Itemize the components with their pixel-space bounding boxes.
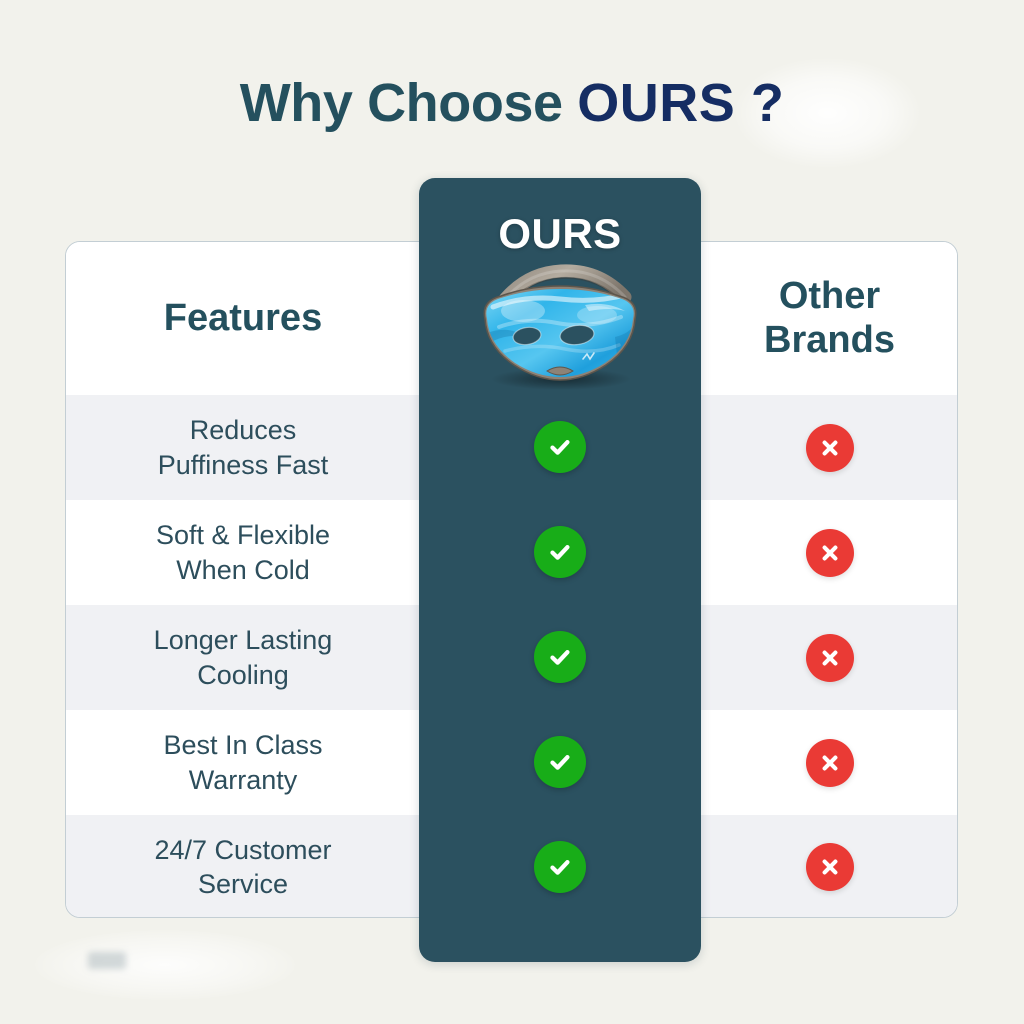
feature-line1: Longer Lasting <box>154 625 333 655</box>
feature-line2: Puffiness Fast <box>158 450 329 480</box>
check-icon <box>534 841 586 893</box>
page-title: Why Choose OURS ? <box>0 72 1024 134</box>
other-brands-cell <box>702 739 957 787</box>
feature-label: Reduces Puffiness Fast <box>158 413 329 482</box>
check-icon <box>534 526 586 578</box>
other-brands-header-label: Other Brands <box>764 275 895 362</box>
feature-cell: 24/7 Customer Service <box>66 833 420 902</box>
header-cell-features: Features <box>66 297 420 340</box>
other-brands-line1: Other <box>779 275 880 317</box>
cross-icon <box>806 739 854 787</box>
ours-cell <box>419 814 701 919</box>
feature-line1: Reduces <box>190 415 297 445</box>
title-accent-text: OURS ? <box>577 73 784 133</box>
cross-icon <box>806 634 854 682</box>
ours-column-label: OURS <box>419 210 701 258</box>
cross-icon <box>806 424 854 472</box>
check-icon <box>534 421 586 473</box>
cross-icon <box>806 529 854 577</box>
other-brands-cell <box>702 424 957 472</box>
ours-highlight-column: OURS <box>419 178 701 962</box>
bottom-smudge-artifact <box>88 952 126 969</box>
feature-label: Best In Class Warranty <box>163 728 322 797</box>
feature-line1: Best In Class <box>163 730 322 760</box>
check-icon <box>534 631 586 683</box>
ours-cell <box>419 499 701 604</box>
feature-line2: Cooling <box>197 660 289 690</box>
feature-cell: Soft & Flexible When Cold <box>66 518 420 587</box>
feature-label: 24/7 Customer Service <box>154 833 331 902</box>
feature-line2: Service <box>198 869 288 899</box>
feature-line1: Soft & Flexible <box>156 520 330 550</box>
gel-eye-mask-image <box>465 263 655 393</box>
feature-line2: When Cold <box>176 555 310 585</box>
feature-label: Longer Lasting Cooling <box>154 623 333 692</box>
ours-cell <box>419 604 701 709</box>
cross-icon <box>806 843 854 891</box>
feature-label: Soft & Flexible When Cold <box>156 518 330 587</box>
ours-cell <box>419 709 701 814</box>
check-icon <box>534 736 586 788</box>
other-brands-cell <box>702 529 957 577</box>
feature-line2: Warranty <box>189 765 298 795</box>
other-brands-line2: Brands <box>764 319 895 361</box>
feature-cell: Best In Class Warranty <box>66 728 420 797</box>
ours-cell <box>419 394 701 499</box>
feature-line1: 24/7 Customer <box>154 835 331 865</box>
feature-cell: Longer Lasting Cooling <box>66 623 420 692</box>
feature-cell: Reduces Puffiness Fast <box>66 413 420 482</box>
bottom-glow <box>35 930 295 1000</box>
features-header-label: Features <box>164 297 322 340</box>
title-plain-text: Why Choose <box>240 73 578 133</box>
other-brands-cell <box>702 843 957 891</box>
other-brands-cell <box>702 634 957 682</box>
header-cell-other-brands: Other Brands <box>702 275 957 362</box>
